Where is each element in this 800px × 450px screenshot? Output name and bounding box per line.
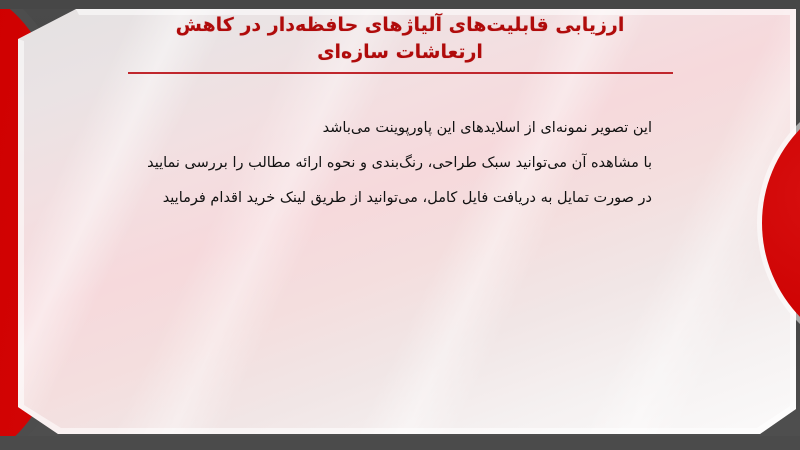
slide-title-line-2: ارتعاشات سازه‌ای [317, 41, 483, 63]
presentation-slide: ارزیابی قابلیت‌های آلیاژهای حافظه‌دار در… [0, 0, 800, 450]
top-frame-band [0, 0, 800, 9]
slide-body-block: این تصویر نمونه‌ای از اسلایدهای این پاور… [32, 118, 652, 209]
bottom-frame-band [0, 436, 800, 450]
slide-title-block: ارزیابی قابلیت‌های آلیاژهای حافظه‌دار در… [60, 12, 740, 74]
slide-title-line-1: ارزیابی قابلیت‌های آلیاژهای حافظه‌دار در… [176, 14, 625, 36]
body-line-1: این تصویر نمونه‌ای از اسلایدهای این پاور… [32, 118, 652, 140]
slide-title: ارزیابی قابلیت‌های آلیاژهای حافظه‌دار در… [60, 12, 740, 66]
body-line-3: در صورت تمایل به دریافت فایل کامل، می‌تو… [32, 188, 652, 210]
body-line-2: با مشاهده آن می‌توانید سبک طراحی، رنگ‌بن… [32, 153, 652, 175]
title-divider-rule [128, 72, 673, 74]
